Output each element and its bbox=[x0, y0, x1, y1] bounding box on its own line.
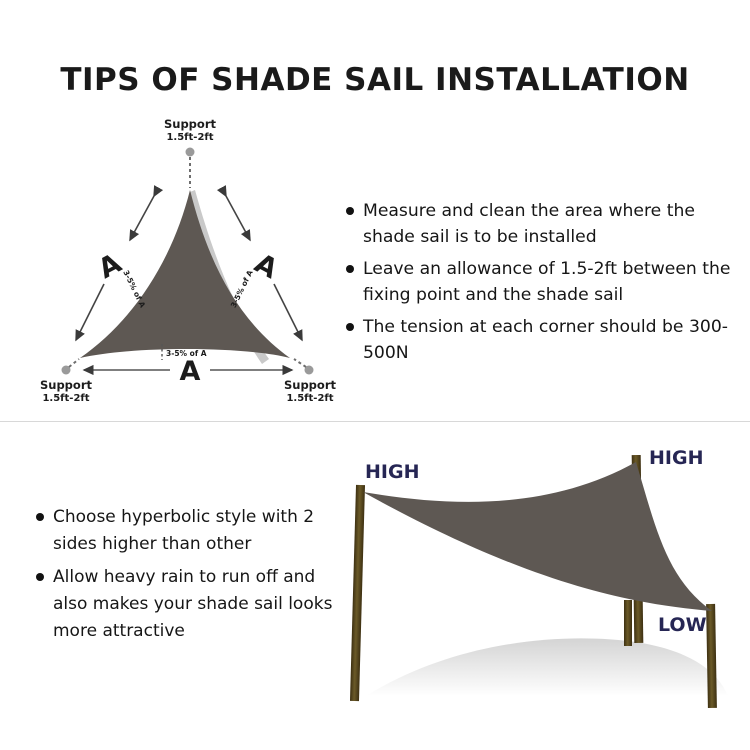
bullet-dot-icon bbox=[346, 323, 354, 331]
dimension-base-curve-note: 3-5% of A bbox=[166, 349, 207, 358]
triangle-shade-sail-diagram: Support 1.5ft-2ft Support 1.5ft-2ft Supp… bbox=[22, 112, 352, 412]
list-item-text: Leave an allowance of 1.5-2ft between th… bbox=[363, 256, 738, 308]
section-divider bbox=[0, 421, 750, 422]
list-item: Allow heavy rain to run off and also mak… bbox=[36, 564, 352, 645]
support-bottom-right-allowance-line bbox=[294, 359, 306, 367]
list-item-text: The tension at each corner should be 300… bbox=[363, 314, 738, 366]
ground-shadow bbox=[366, 638, 728, 696]
list-item-text: Allow heavy rain to run off and also mak… bbox=[53, 564, 352, 645]
dimension-left-label: A bbox=[94, 248, 127, 285]
post-back-left bbox=[350, 485, 365, 701]
hyperbolic-shade-sail-diagram: HIGH HIGH LOW bbox=[336, 428, 750, 720]
dimension-left-curve-note: 3-5% of A bbox=[121, 269, 147, 310]
corner-label-high-left: HIGH bbox=[365, 461, 419, 483]
bullet-dot-icon bbox=[346, 265, 354, 273]
bullet-dot-icon bbox=[36, 573, 44, 581]
corner-label-low: LOW bbox=[658, 614, 707, 636]
list-item: The tension at each corner should be 300… bbox=[346, 314, 738, 366]
support-bottom-left-allowance-line bbox=[69, 359, 79, 367]
post-front-right bbox=[706, 604, 717, 708]
dimension-right-arrow-lower bbox=[274, 284, 302, 340]
bullet-dot-icon bbox=[346, 207, 354, 215]
list-item: Measure and clean the area where the sha… bbox=[346, 198, 738, 250]
list-item-text: Measure and clean the area where the sha… bbox=[363, 198, 738, 250]
dimension-right-arrow-upper bbox=[226, 196, 250, 240]
list-item: Choose hyperbolic style with 2 sides hig… bbox=[36, 504, 352, 558]
infographic-page: TIPS OF SHADE SAIL INSTALLATION Support … bbox=[0, 0, 750, 750]
bullet-dot-icon bbox=[36, 513, 44, 521]
dimension-base-label: A bbox=[180, 356, 201, 387]
support-bottom-right-distance: 1.5ft-2ft bbox=[286, 393, 333, 404]
dimension-right-curve-note: 3-5% of A bbox=[229, 269, 255, 310]
list-item-text: Choose hyperbolic style with 2 sides hig… bbox=[53, 504, 352, 558]
support-bottom-right-label: Support bbox=[284, 378, 337, 392]
support-bottom-left-distance: 1.5ft-2ft bbox=[42, 393, 89, 404]
dimension-right-label: A bbox=[249, 248, 282, 285]
page-title: TIPS OF SHADE SAIL INSTALLATION bbox=[0, 62, 750, 98]
corner-label-high-right: HIGH bbox=[649, 447, 703, 469]
support-top-label: Support bbox=[164, 117, 217, 131]
support-top-anchor-dot bbox=[186, 148, 195, 157]
post-middle bbox=[624, 600, 632, 646]
installation-tips-bottom-list: Choose hyperbolic style with 2 sides hig… bbox=[36, 504, 352, 651]
dimension-left-arrow-lower bbox=[76, 284, 104, 340]
list-item: Leave an allowance of 1.5-2ft between th… bbox=[346, 256, 738, 308]
dimension-left-arrow-upper bbox=[130, 196, 154, 240]
support-bottom-left-label: Support bbox=[40, 378, 93, 392]
sail-shape bbox=[363, 462, 712, 611]
support-top-distance: 1.5ft-2ft bbox=[166, 132, 213, 143]
installation-tips-top-list: Measure and clean the area where the sha… bbox=[346, 198, 738, 372]
